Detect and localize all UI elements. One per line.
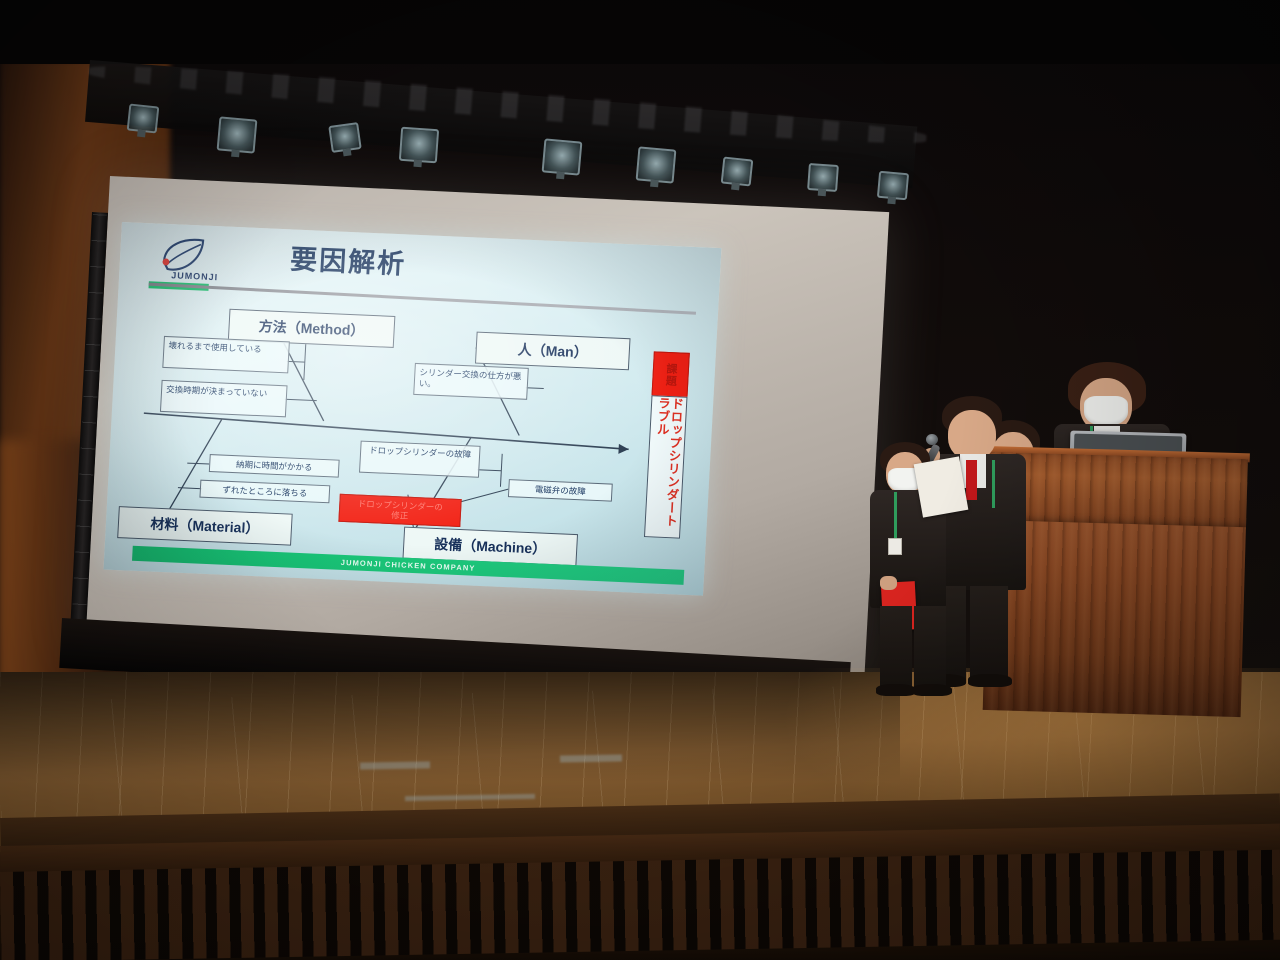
ceiling-dark [0,0,1280,64]
cause-text: 交換時期が決まっていない [166,384,268,398]
stage-presentation-scene: JUMONJI 要因解析 [0,0,1280,960]
stage-light-icon [807,163,839,192]
cause-text: ずれたところに落ちる [222,485,307,499]
cause-text: シリンダー交換の仕方が悪い。 [419,367,522,388]
page-title: 要因解析 [289,237,407,281]
logo-wordmark: JUMONJI [171,270,219,282]
cause-box-method-2: 交換時期が決まっていない [160,380,288,417]
cause-box-material-2: ずれたところに落ちる [199,480,330,504]
stage-light-icon [721,157,754,187]
cause-text: 電磁弁の故障 [535,484,587,496]
head [948,410,996,460]
category-label: 人（Man） [517,339,588,362]
floor-tape-mark [560,754,622,762]
stage-light-icon [636,146,677,183]
floor-tape-mark [360,761,430,769]
shoe [876,684,916,696]
face-mask [1084,396,1128,426]
legs [880,606,912,690]
cause-box-man-1: シリンダー交換の仕方が悪い。 [413,363,529,400]
category-label: 材料（Material） [150,514,260,539]
floor-shadow [0,672,900,782]
cause-text: ドロップシリンダーの故障 [369,445,471,459]
legs [970,586,1008,680]
cause-text: 壊れるまで使用している [168,340,262,354]
name-badge [888,538,902,555]
cause-box-machine-2: 電磁弁の故障 [508,479,613,502]
category-label: 設備（Machine） [434,534,547,559]
stage-light-icon [877,171,909,201]
microphone-head [926,434,938,445]
shoe [968,674,1012,687]
footer-label: JUMONJI CHICKEN COMPANY [341,558,476,573]
projection-screen: JUMONJI 要因解析 [103,222,721,596]
stage-light-icon [399,127,439,164]
legs [914,606,946,690]
problem-header: 課題 [651,351,689,399]
lanyard [894,492,897,538]
stage-light-icon [217,116,258,153]
necktie-red [966,460,977,500]
cause-box-method-1: 壊れるまで使用している [162,336,290,373]
problem-header-label: 課題 [662,363,679,388]
problem-body: ドロップシリンダートラブル [644,395,688,538]
presentation-script[interactable] [914,456,969,517]
highlight-box: ドロップシリンダーの 修正 [338,494,461,527]
stage-light-icon [328,122,361,153]
category-label: 方法（Method） [258,316,365,341]
category-box-material: 材料（Material） [117,506,293,546]
slide-content: JUMONJI 要因解析 [103,222,721,596]
stage-light-icon [127,104,160,134]
cause-box-machine-1: ドロップシリンダーの故障 [359,441,481,478]
cause-text: 納期に時間がかかる [236,459,313,472]
hand [880,576,897,590]
problem-body-label: ドロップシリンダートラブル [649,396,683,537]
category-box-man: 人（Man） [475,332,631,371]
cause-box-material-1: 納期に時間がかかる [209,454,340,478]
lanyard [992,460,995,508]
shoe [912,684,952,696]
stage-light-icon [542,138,583,175]
